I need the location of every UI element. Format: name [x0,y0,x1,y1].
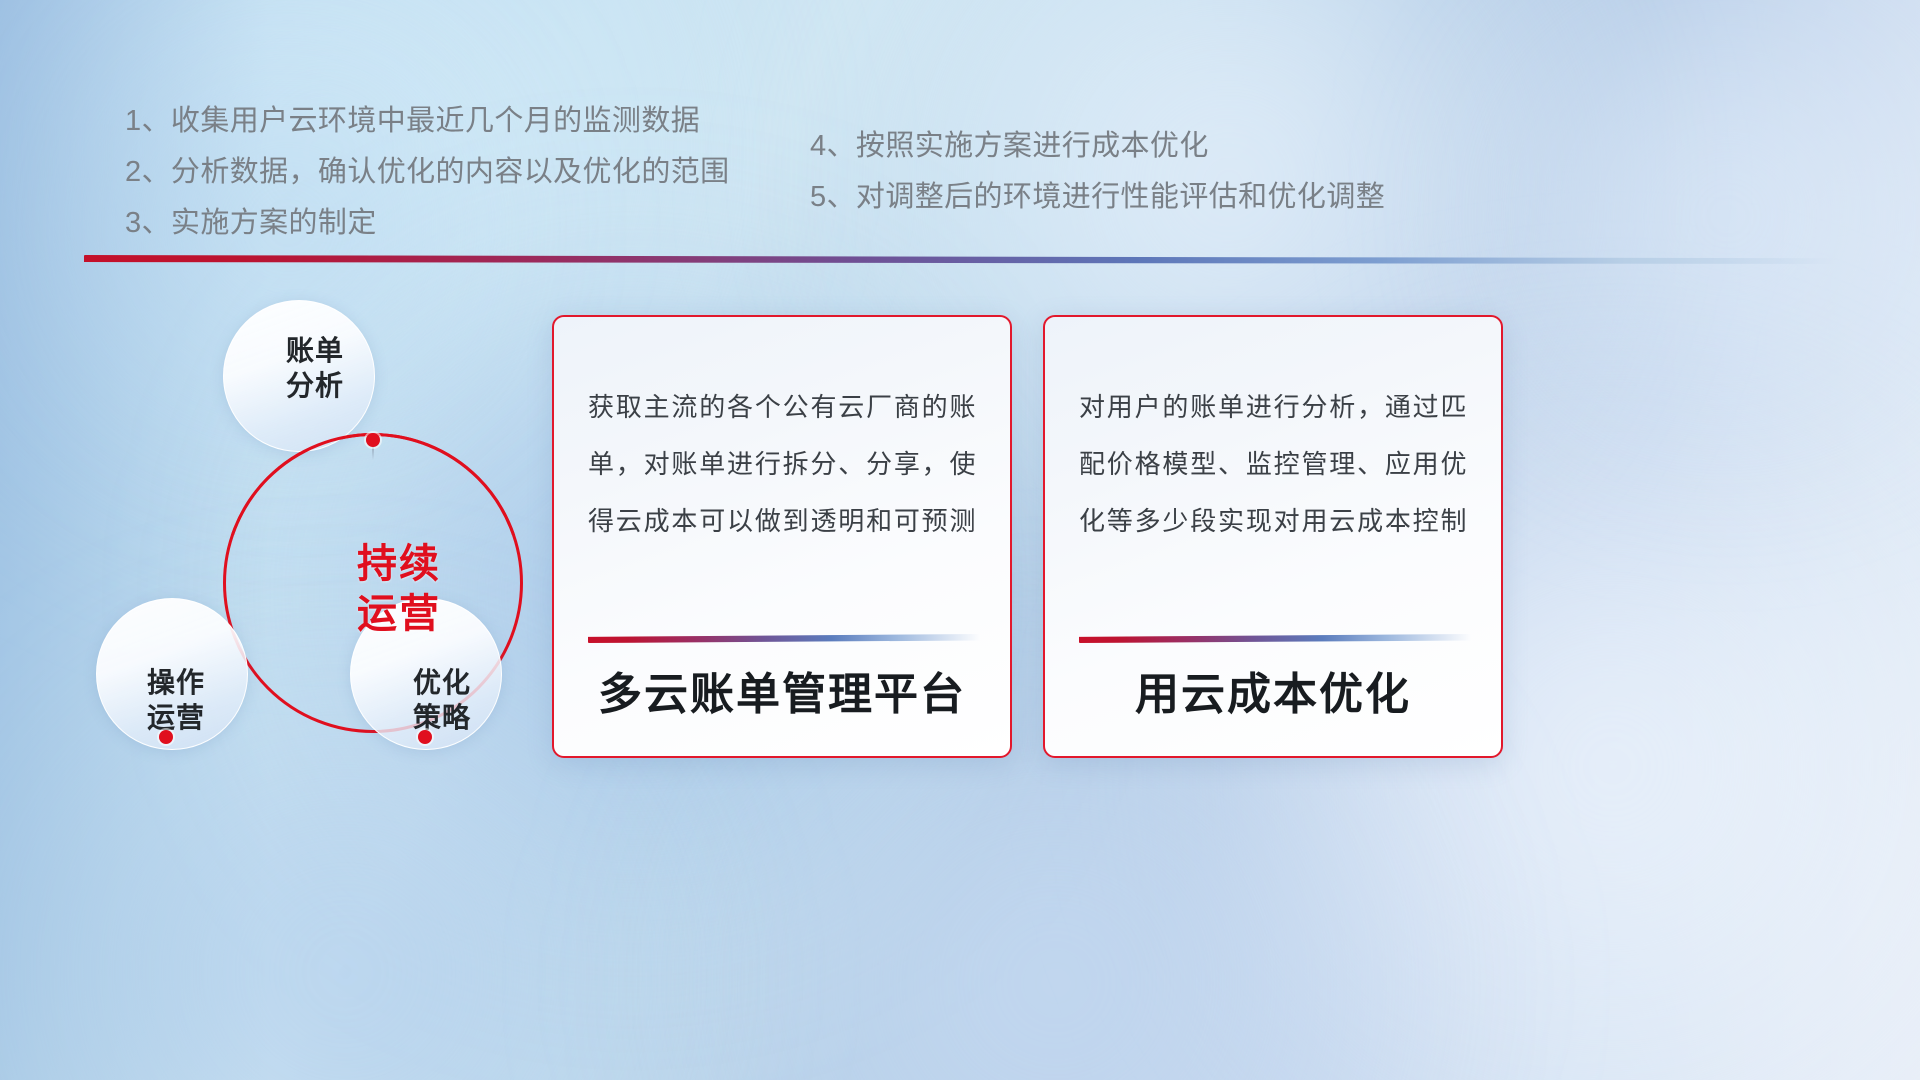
step-list-left-column: 1、收集用户云环境中最近几个月的监测数据 2、分析数据，确认优化的内容以及优化的… [125,96,730,249]
list-item: 3、实施方案的制定 [125,198,730,249]
venn-diagram: 账单 分析 操作 运营 优化 策略 持续 运营 [78,288,548,776]
info-card-multi-cloud-billing-platform[interactable]: 获取主流的各个公有云厂商的账单，对账单进行拆分、分享，使得云成本可以做到透明和可… [552,315,1012,758]
card-title: 多云账单管理平台 [554,658,1010,722]
list-item: 5、对调整后的环境进行性能评估和优化调整 [810,172,1385,223]
step-list-right-column: 4、按照实施方案进行成本优化 5、对调整后的环境进行性能评估和优化调整 [810,121,1385,223]
diagram-node-label: 账单 分析 [286,333,344,403]
connector-dot-bottom-left [159,730,173,744]
list-item: 4、按照实施方案进行成本优化 [810,121,1385,172]
card-paragraph: 获取主流的各个公有云厂商的账单，对账单进行拆分、分享，使得云成本可以做到透明和可… [588,379,976,550]
info-card-cloud-cost-optimization[interactable]: 对用户的账单进行分析，通过匹配价格模型、监控管理、应用优化等多少段实现对用云成本… [1043,315,1503,758]
list-item: 2、分析数据，确认优化的内容以及优化的范围 [125,147,730,198]
diagram-center-label: 持续 运营 [223,433,523,733]
diagram-node-label: 操作 运营 [147,665,205,735]
card-title: 用云成本优化 [1045,658,1501,722]
card-paragraph: 对用户的账单进行分析，通过匹配价格模型、监控管理、应用优化等多少段实现对用云成本… [1079,379,1467,550]
diagram-node-billing-analysis[interactable]: 账单 分析 [223,300,375,452]
list-item: 1、收集用户云环境中最近几个月的监测数据 [125,96,730,147]
step-list: 1、收集用户云环境中最近几个月的监测数据 2、分析数据，确认优化的内容以及优化的… [0,0,1920,248]
